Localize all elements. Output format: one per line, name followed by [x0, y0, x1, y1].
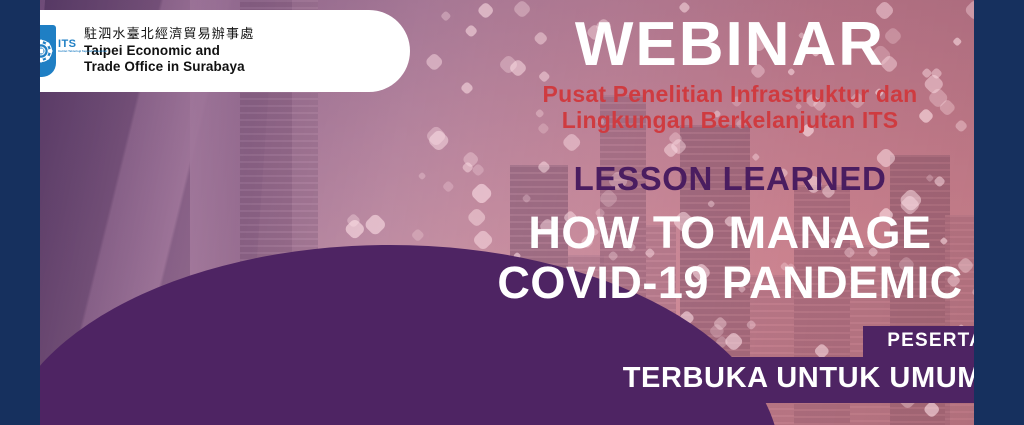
its-wordmark: ITS Institut Teknologi Sepuluh Nopember — [58, 39, 107, 54]
webinar-title: WEBINAR — [450, 14, 1010, 76]
its-fullname: Institut Teknologi Sepuluh Nopember — [58, 50, 107, 54]
office-name-english-line2: Trade Office in Surabaya — [84, 59, 254, 75]
left-border-strip — [0, 0, 40, 425]
headline-block: WEBINAR Pusat Penelitian Infrastruktur d… — [450, 0, 1010, 308]
participants-badges: PESERTA TERBUKA UNTUK UMUM — [597, 326, 1008, 403]
organizer-logo-pill: ITS Institut Teknologi Sepuluh Nopember … — [10, 10, 410, 92]
webinar-banner: ITS Institut Teknologi Sepuluh Nopember … — [0, 0, 1024, 425]
teto-name-block: 駐泗水臺北經濟貿易辦事處 Taipei Economic and Trade O… — [84, 27, 254, 74]
office-name-chinese: 駐泗水臺北經濟貿易辦事處 — [84, 27, 254, 42]
main-title-line1: HOW TO MANAGE — [450, 208, 1010, 258]
subtitle-line2: Lingkungan Berkelanjutan ITS — [450, 108, 1010, 134]
peserta-value-badge: TERBUKA UNTUK UMUM — [597, 357, 1008, 403]
right-border-strip — [974, 0, 1024, 425]
its-acronym: ITS — [58, 39, 107, 50]
subtitle-line1: Pusat Penelitian Infrastruktur dan — [450, 82, 1010, 108]
main-title-line2: COVID-19 PANDEMIC — [450, 258, 1010, 308]
office-name-english-line1: Taipei Economic and — [84, 43, 254, 59]
lesson-learned-label: LESSON LEARNED — [450, 160, 1010, 198]
